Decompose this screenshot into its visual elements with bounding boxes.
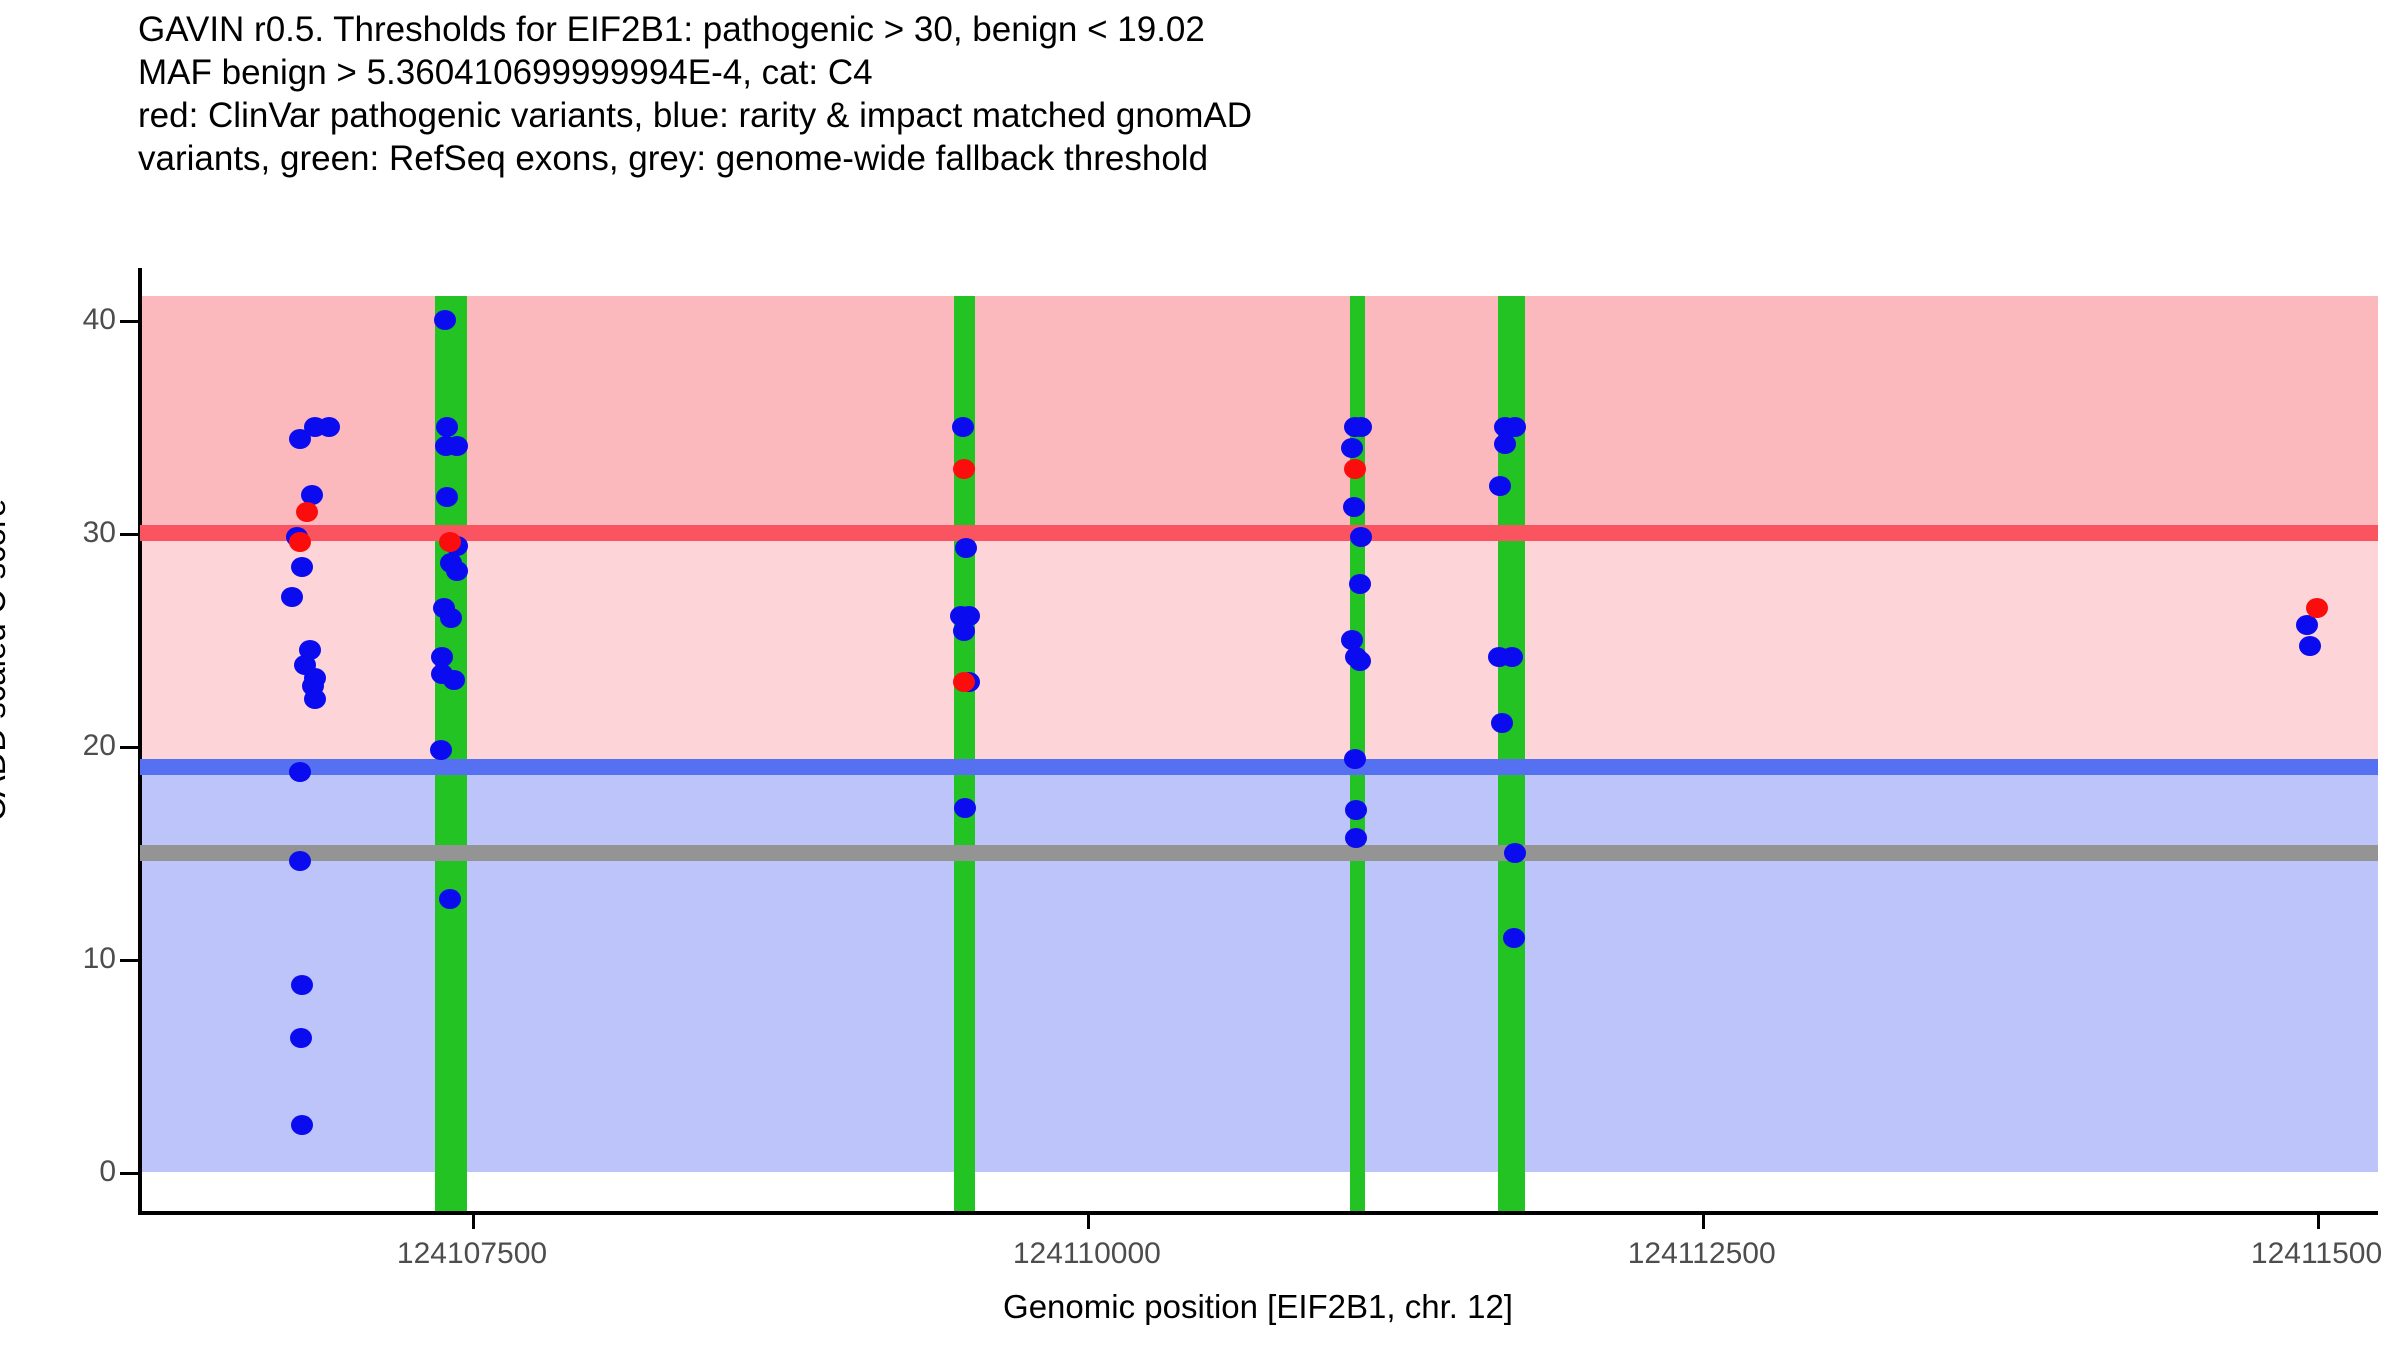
y-axis-line: 010203040 [138, 268, 142, 1213]
data-point-blue [1504, 843, 1526, 863]
y-tick [120, 746, 138, 749]
data-point-blue [953, 621, 975, 641]
data-point-blue [1345, 828, 1367, 848]
data-point-blue [289, 429, 311, 449]
y-tick-label: 40 [83, 303, 116, 337]
data-point-blue [289, 851, 311, 871]
data-point-blue [291, 975, 313, 995]
data-point-blue [1344, 749, 1366, 769]
data-point-blue [1350, 417, 1372, 437]
data-point-blue [304, 689, 326, 709]
x-axis-line: 12410750012411000012411250012411500 [138, 1211, 2378, 1215]
data-point-blue [318, 417, 340, 437]
data-point-blue [954, 798, 976, 818]
plot-area [140, 296, 2378, 1213]
y-tick [120, 959, 138, 962]
x-tick [472, 1211, 475, 1229]
data-point-blue [436, 417, 458, 437]
data-point-blue [1349, 651, 1371, 671]
data-point-blue [1501, 647, 1523, 667]
zone-benign [140, 767, 2378, 1172]
data-point-blue [952, 417, 974, 437]
data-point-blue [1503, 928, 1525, 948]
data-point-blue [1494, 434, 1516, 454]
y-tick-label: 20 [83, 729, 116, 763]
x-tick [1702, 1211, 1705, 1229]
data-point-red [439, 532, 461, 552]
data-point-red [1344, 459, 1366, 479]
threshold-line-pathogenic [140, 525, 2378, 541]
y-tick [120, 533, 138, 536]
title-line-2: MAF benign > 5.360410699999994E-4, cat: … [138, 51, 2338, 94]
data-point-red [2306, 598, 2328, 618]
x-tick [1087, 1211, 1090, 1229]
data-point-blue [2296, 615, 2318, 635]
y-tick-label: 30 [83, 516, 116, 550]
data-point-blue [289, 762, 311, 782]
x-tick-label: 12411500 [2251, 1237, 2382, 1271]
title-line-1: GAVIN r0.5. Thresholds for EIF2B1: patho… [138, 8, 2338, 51]
title-line-4: variants, green: RefSeq exons, grey: gen… [138, 137, 2338, 180]
x-axis-label: Genomic position [EIF2B1, chr. 12] [1003, 1288, 1513, 1326]
x-tick-label: 124107500 [397, 1237, 547, 1271]
y-tick [120, 320, 138, 323]
data-point-red [953, 672, 975, 692]
threshold-line-genome-wide-fallback [140, 845, 2378, 861]
y-tick-label: 0 [99, 1155, 116, 1189]
data-point-red [953, 459, 975, 479]
chart-title: GAVIN r0.5. Thresholds for EIF2B1: patho… [138, 8, 2338, 180]
y-axis-label: CADD scaled C-score [0, 499, 13, 822]
zone-pathogenic [140, 296, 2378, 533]
data-point-blue [446, 436, 468, 456]
x-tick-label: 124110000 [1013, 1237, 1161, 1271]
x-tick [2317, 1211, 2320, 1229]
data-point-blue [1349, 574, 1371, 594]
title-line-3: red: ClinVar pathogenic variants, blue: … [138, 94, 2338, 137]
threshold-line-benign [140, 759, 2378, 775]
data-point-blue [1345, 800, 1367, 820]
y-tick [120, 1172, 138, 1175]
data-point-red [296, 502, 318, 522]
x-tick-label: 124112500 [1628, 1237, 1776, 1271]
data-point-blue [290, 1028, 312, 1048]
data-point-blue [443, 670, 465, 690]
data-point-red [289, 532, 311, 552]
zone-ambiguous [140, 533, 2378, 767]
data-point-blue [1489, 476, 1511, 496]
data-point-blue [1491, 713, 1513, 733]
data-point-blue [434, 310, 456, 330]
chart-root: GAVIN r0.5. Thresholds for EIF2B1: patho… [0, 0, 2400, 1350]
y-tick-label: 10 [83, 942, 116, 976]
